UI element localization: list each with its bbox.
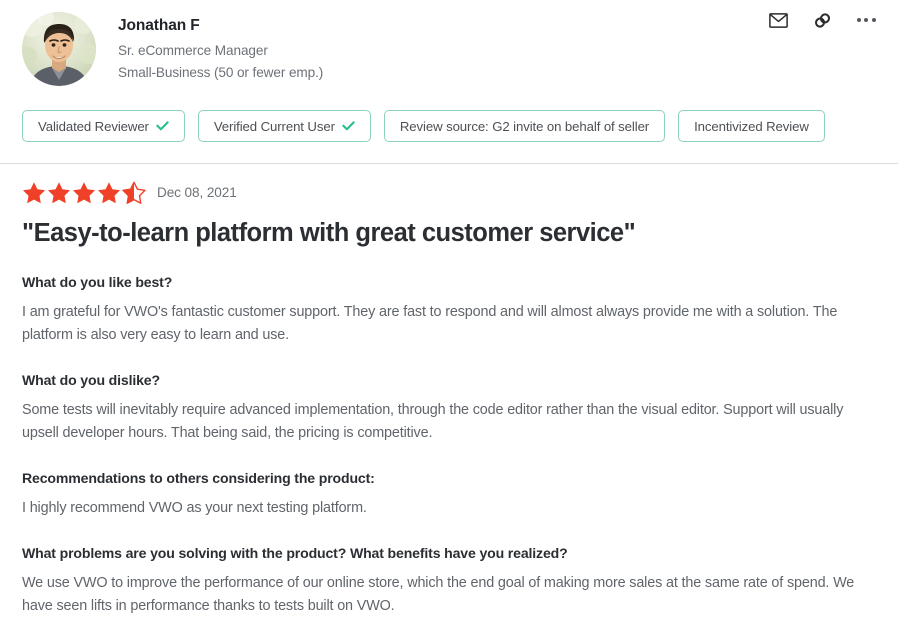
reviewer-job-title: Sr. eCommerce Manager	[118, 40, 323, 62]
qa-block: What do you like best? I am grateful for…	[22, 273, 876, 347]
qa-answer: I highly recommend VWO as your next test…	[22, 497, 876, 520]
link-icon[interactable]	[810, 8, 834, 32]
reviewer-company-size: Small-Business (50 or fewer emp.)	[118, 62, 323, 84]
star-half	[122, 181, 146, 204]
more-options-icon[interactable]	[854, 8, 878, 32]
qa-answer: Some tests will inevitably require advan…	[22, 399, 876, 445]
badge-label: Verified Current User	[214, 119, 335, 134]
check-icon	[156, 121, 169, 131]
header-actions	[766, 8, 878, 32]
reviewer-name: Jonathan F	[118, 16, 323, 36]
rating-row: Dec 08, 2021	[0, 164, 898, 204]
qa-question: Recommendations to others considering th…	[22, 469, 876, 488]
star-full	[97, 181, 121, 204]
badge-review-source[interactable]: Review source: G2 invite on behalf of se…	[384, 110, 665, 142]
check-icon	[342, 121, 355, 131]
badge-label: Review source: G2 invite on behalf of se…	[400, 119, 649, 134]
review-title: "Easy-to-learn platform with great custo…	[0, 204, 898, 249]
email-icon[interactable]	[766, 8, 790, 32]
qa-answer: We use VWO to improve the performance of…	[22, 572, 876, 618]
qa-question: What do you like best?	[22, 273, 876, 292]
qa-question: What do you dislike?	[22, 371, 876, 390]
star-full	[22, 181, 46, 204]
star-rating	[22, 181, 146, 204]
review-body: What do you like best? I am grateful for…	[0, 273, 898, 618]
reviewer-meta: Jonathan F Sr. eCommerce Manager Small-B…	[118, 10, 323, 84]
badge-label: Validated Reviewer	[38, 119, 149, 134]
qa-block: What do you dislike? Some tests will ine…	[22, 371, 876, 445]
qa-block: Recommendations to others considering th…	[22, 469, 876, 520]
qa-question: What problems are you solving with the p…	[22, 544, 876, 563]
review-header: Jonathan F Sr. eCommerce Manager Small-B…	[0, 0, 898, 86]
star-full	[47, 181, 71, 204]
review-badges: Validated Reviewer Verified Current User…	[0, 86, 898, 142]
qa-answer: I am grateful for VWO's fantastic custom…	[22, 301, 876, 347]
badge-incentivized-review[interactable]: Incentivized Review	[678, 110, 825, 142]
badge-validated-reviewer[interactable]: Validated Reviewer	[22, 110, 185, 142]
review-date: Dec 08, 2021	[157, 185, 237, 200]
badge-label: Incentivized Review	[694, 119, 809, 134]
review-card: Jonathan F Sr. eCommerce Manager Small-B…	[0, 0, 898, 607]
star-full	[72, 181, 96, 204]
avatar	[22, 12, 96, 86]
badge-verified-current-user[interactable]: Verified Current User	[198, 110, 371, 142]
